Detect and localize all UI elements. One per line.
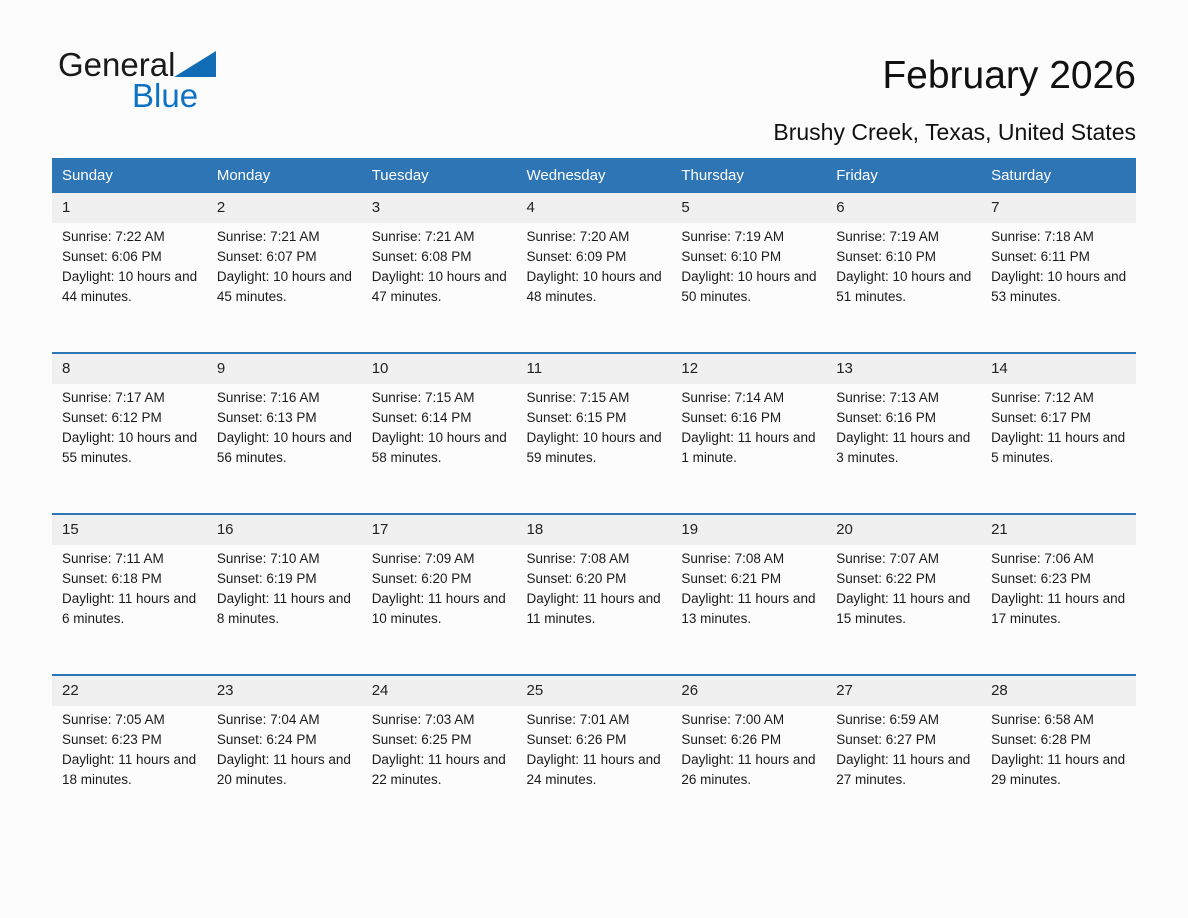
day-cell[interactable]: Sunrise: 6:59 AM Sunset: 6:27 PM Dayligh…: [826, 706, 981, 835]
sunset-text: Sunset: 6:26 PM: [681, 730, 818, 750]
daylight-text: Daylight: 11 hours and 29 minutes.: [991, 750, 1128, 790]
day-cell[interactable]: Sunrise: 7:22 AM Sunset: 6:06 PM Dayligh…: [52, 223, 207, 353]
daylight-text: Daylight: 11 hours and 5 minutes.: [991, 428, 1128, 468]
week-info-row: Sunrise: 7:05 AM Sunset: 6:23 PM Dayligh…: [52, 706, 1136, 835]
day-number: 20: [826, 514, 981, 545]
sunset-text: Sunset: 6:15 PM: [527, 408, 664, 428]
sunrise-text: Sunrise: 7:06 AM: [991, 549, 1128, 569]
daylight-text: Daylight: 11 hours and 18 minutes.: [62, 750, 199, 790]
location-subtitle: Brushy Creek, Texas, United States: [773, 117, 1136, 147]
sunrise-text: Sunrise: 7:17 AM: [62, 388, 199, 408]
day-number: 8: [52, 353, 207, 384]
general-blue-logo[interactable]: General Blue: [58, 48, 318, 118]
weekday-header-wednesday: Wednesday: [517, 158, 672, 193]
sunset-text: Sunset: 6:16 PM: [836, 408, 973, 428]
sunrise-text: Sunrise: 7:04 AM: [217, 710, 354, 730]
sunrise-text: Sunrise: 7:16 AM: [217, 388, 354, 408]
calendar-body: 1 2 3 4 5 6 7 Sunrise: 7:22 AM Sunset: 6…: [52, 193, 1136, 835]
sunset-text: Sunset: 6:07 PM: [217, 247, 354, 267]
sunrise-text: Sunrise: 7:09 AM: [372, 549, 509, 569]
day-cell[interactable]: Sunrise: 7:01 AM Sunset: 6:26 PM Dayligh…: [517, 706, 672, 835]
sunset-text: Sunset: 6:14 PM: [372, 408, 509, 428]
sunset-text: Sunset: 6:09 PM: [527, 247, 664, 267]
sunrise-text: Sunrise: 7:08 AM: [681, 549, 818, 569]
sunrise-text: Sunrise: 7:15 AM: [372, 388, 509, 408]
sunrise-text: Sunrise: 7:13 AM: [836, 388, 973, 408]
day-cell[interactable]: Sunrise: 6:58 AM Sunset: 6:28 PM Dayligh…: [981, 706, 1136, 835]
day-number: 17: [362, 514, 517, 545]
daylight-text: Daylight: 10 hours and 47 minutes.: [372, 267, 509, 307]
daylight-text: Daylight: 10 hours and 53 minutes.: [991, 267, 1128, 307]
daylight-text: Daylight: 11 hours and 3 minutes.: [836, 428, 973, 468]
week-date-row: 8 9 10 11 12 13 14: [52, 353, 1136, 384]
sunrise-text: Sunrise: 7:21 AM: [372, 227, 509, 247]
day-cell[interactable]: Sunrise: 7:05 AM Sunset: 6:23 PM Dayligh…: [52, 706, 207, 835]
sunset-text: Sunset: 6:19 PM: [217, 569, 354, 589]
sunset-text: Sunset: 6:20 PM: [527, 569, 664, 589]
calendar-table: Sunday Monday Tuesday Wednesday Thursday…: [52, 158, 1136, 835]
day-cell[interactable]: Sunrise: 7:07 AM Sunset: 6:22 PM Dayligh…: [826, 545, 981, 675]
day-cell[interactable]: Sunrise: 7:19 AM Sunset: 6:10 PM Dayligh…: [671, 223, 826, 353]
sunset-text: Sunset: 6:12 PM: [62, 408, 199, 428]
daylight-text: Daylight: 11 hours and 20 minutes.: [217, 750, 354, 790]
week-info-row: Sunrise: 7:17 AM Sunset: 6:12 PM Dayligh…: [52, 384, 1136, 514]
sunset-text: Sunset: 6:22 PM: [836, 569, 973, 589]
weekday-header-sunday: Sunday: [52, 158, 207, 193]
daylight-text: Daylight: 10 hours and 58 minutes.: [372, 428, 509, 468]
day-number: 7: [981, 193, 1136, 223]
day-cell[interactable]: Sunrise: 7:19 AM Sunset: 6:10 PM Dayligh…: [826, 223, 981, 353]
sunrise-text: Sunrise: 7:11 AM: [62, 549, 199, 569]
daylight-text: Daylight: 11 hours and 11 minutes.: [527, 589, 664, 629]
sunrise-text: Sunrise: 7:19 AM: [681, 227, 818, 247]
week-date-row: 15 16 17 18 19 20 21: [52, 514, 1136, 545]
sunrise-text: Sunrise: 7:05 AM: [62, 710, 199, 730]
sunset-text: Sunset: 6:23 PM: [991, 569, 1128, 589]
day-number: 25: [517, 675, 672, 706]
weekday-header-friday: Friday: [826, 158, 981, 193]
day-number: 4: [517, 193, 672, 223]
weekday-header-tuesday: Tuesday: [362, 158, 517, 193]
daylight-text: Daylight: 10 hours and 50 minutes.: [681, 267, 818, 307]
day-cell[interactable]: Sunrise: 7:04 AM Sunset: 6:24 PM Dayligh…: [207, 706, 362, 835]
sunset-text: Sunset: 6:08 PM: [372, 247, 509, 267]
title-block: February 2026: [882, 52, 1136, 99]
sunrise-text: Sunrise: 7:03 AM: [372, 710, 509, 730]
calendar-grid: Sunday Monday Tuesday Wednesday Thursday…: [52, 158, 1136, 835]
calendar-page: General Blue February 2026 Brushy Creek,…: [0, 0, 1188, 918]
weekday-header-monday: Monday: [207, 158, 362, 193]
day-cell[interactable]: Sunrise: 7:20 AM Sunset: 6:09 PM Dayligh…: [517, 223, 672, 353]
daylight-text: Daylight: 11 hours and 27 minutes.: [836, 750, 973, 790]
sunrise-text: Sunrise: 7:10 AM: [217, 549, 354, 569]
day-number: 14: [981, 353, 1136, 384]
sunrise-text: Sunrise: 7:12 AM: [991, 388, 1128, 408]
sunset-text: Sunset: 6:27 PM: [836, 730, 973, 750]
sunset-text: Sunset: 6:24 PM: [217, 730, 354, 750]
sunset-text: Sunset: 6:21 PM: [681, 569, 818, 589]
day-cell[interactable]: Sunrise: 7:15 AM Sunset: 6:15 PM Dayligh…: [517, 384, 672, 514]
day-number: 2: [207, 193, 362, 223]
day-number: 15: [52, 514, 207, 545]
sunrise-text: Sunrise: 6:59 AM: [836, 710, 973, 730]
day-number: 3: [362, 193, 517, 223]
day-cell[interactable]: Sunrise: 7:14 AM Sunset: 6:16 PM Dayligh…: [671, 384, 826, 514]
day-cell[interactable]: Sunrise: 7:06 AM Sunset: 6:23 PM Dayligh…: [981, 545, 1136, 675]
sunrise-text: Sunrise: 7:18 AM: [991, 227, 1128, 247]
sunrise-text: Sunrise: 7:20 AM: [527, 227, 664, 247]
daylight-text: Daylight: 10 hours and 45 minutes.: [217, 267, 354, 307]
day-cell[interactable]: Sunrise: 7:11 AM Sunset: 6:18 PM Dayligh…: [52, 545, 207, 675]
day-number: 22: [52, 675, 207, 706]
daylight-text: Daylight: 11 hours and 15 minutes.: [836, 589, 973, 629]
day-cell[interactable]: Sunrise: 7:12 AM Sunset: 6:17 PM Dayligh…: [981, 384, 1136, 514]
daylight-text: Daylight: 11 hours and 10 minutes.: [372, 589, 509, 629]
day-number: 26: [671, 675, 826, 706]
daylight-text: Daylight: 10 hours and 59 minutes.: [527, 428, 664, 468]
sunrise-text: Sunrise: 7:14 AM: [681, 388, 818, 408]
daylight-text: Daylight: 11 hours and 26 minutes.: [681, 750, 818, 790]
day-number: 24: [362, 675, 517, 706]
sunrise-text: Sunrise: 7:08 AM: [527, 549, 664, 569]
sunset-text: Sunset: 6:25 PM: [372, 730, 509, 750]
day-cell[interactable]: Sunrise: 7:03 AM Sunset: 6:25 PM Dayligh…: [362, 706, 517, 835]
sunset-text: Sunset: 6:28 PM: [991, 730, 1128, 750]
day-cell[interactable]: Sunrise: 7:15 AM Sunset: 6:14 PM Dayligh…: [362, 384, 517, 514]
day-cell[interactable]: Sunrise: 7:09 AM Sunset: 6:20 PM Dayligh…: [362, 545, 517, 675]
day-number: 9: [207, 353, 362, 384]
week-date-row: 22 23 24 25 26 27 28: [52, 675, 1136, 706]
day-number: 21: [981, 514, 1136, 545]
sunset-text: Sunset: 6:16 PM: [681, 408, 818, 428]
logo-triangle-icon: [174, 51, 216, 77]
day-number: 16: [207, 514, 362, 545]
day-number: 13: [826, 353, 981, 384]
day-cell[interactable]: Sunrise: 7:10 AM Sunset: 6:19 PM Dayligh…: [207, 545, 362, 675]
sunset-text: Sunset: 6:13 PM: [217, 408, 354, 428]
daylight-text: Daylight: 11 hours and 6 minutes.: [62, 589, 199, 629]
day-number: 18: [517, 514, 672, 545]
daylight-text: Daylight: 11 hours and 17 minutes.: [991, 589, 1128, 629]
sunset-text: Sunset: 6:11 PM: [991, 247, 1128, 267]
page-header: General Blue February 2026 Brushy Creek,…: [0, 0, 1188, 118]
sunrise-text: Sunrise: 7:00 AM: [681, 710, 818, 730]
week-date-row: 1 2 3 4 5 6 7: [52, 193, 1136, 223]
sunrise-text: Sunrise: 7:22 AM: [62, 227, 199, 247]
day-number: 10: [362, 353, 517, 384]
daylight-text: Daylight: 11 hours and 24 minutes.: [527, 750, 664, 790]
weekday-header-thursday: Thursday: [671, 158, 826, 193]
day-cell[interactable]: Sunrise: 7:08 AM Sunset: 6:20 PM Dayligh…: [517, 545, 672, 675]
day-number: 11: [517, 353, 672, 384]
daylight-text: Daylight: 10 hours and 51 minutes.: [836, 267, 973, 307]
sunset-text: Sunset: 6:23 PM: [62, 730, 199, 750]
sunset-text: Sunset: 6:17 PM: [991, 408, 1128, 428]
page-title: February 2026: [882, 52, 1136, 99]
daylight-text: Daylight: 10 hours and 44 minutes.: [62, 267, 199, 307]
sunrise-text: Sunrise: 6:58 AM: [991, 710, 1128, 730]
daylight-text: Daylight: 10 hours and 55 minutes.: [62, 428, 199, 468]
day-number: 27: [826, 675, 981, 706]
day-cell[interactable]: Sunrise: 7:18 AM Sunset: 6:11 PM Dayligh…: [981, 223, 1136, 353]
day-cell[interactable]: Sunrise: 7:21 AM Sunset: 6:07 PM Dayligh…: [207, 223, 362, 353]
logo-text-blue: Blue: [132, 79, 318, 113]
day-number: 1: [52, 193, 207, 223]
day-cell[interactable]: Sunrise: 7:08 AM Sunset: 6:21 PM Dayligh…: [671, 545, 826, 675]
day-cell[interactable]: Sunrise: 7:13 AM Sunset: 6:16 PM Dayligh…: [826, 384, 981, 514]
sunset-text: Sunset: 6:06 PM: [62, 247, 199, 267]
daylight-text: Daylight: 10 hours and 48 minutes.: [527, 267, 664, 307]
daylight-text: Daylight: 11 hours and 13 minutes.: [681, 589, 818, 629]
day-number: 6: [826, 193, 981, 223]
daylight-text: Daylight: 11 hours and 22 minutes.: [372, 750, 509, 790]
day-cell[interactable]: Sunrise: 7:21 AM Sunset: 6:08 PM Dayligh…: [362, 223, 517, 353]
sunset-text: Sunset: 6:18 PM: [62, 569, 199, 589]
sunrise-text: Sunrise: 7:07 AM: [836, 549, 973, 569]
calendar-header-row: Sunday Monday Tuesday Wednesday Thursday…: [52, 158, 1136, 193]
sunset-text: Sunset: 6:26 PM: [527, 730, 664, 750]
sunrise-text: Sunrise: 7:01 AM: [527, 710, 664, 730]
week-info-row: Sunrise: 7:11 AM Sunset: 6:18 PM Dayligh…: [52, 545, 1136, 675]
day-number: 19: [671, 514, 826, 545]
daylight-text: Daylight: 11 hours and 8 minutes.: [217, 589, 354, 629]
day-number: 12: [671, 353, 826, 384]
sunset-text: Sunset: 6:10 PM: [836, 247, 973, 267]
weekday-header-saturday: Saturday: [981, 158, 1136, 193]
daylight-text: Daylight: 10 hours and 56 minutes.: [217, 428, 354, 468]
daylight-text: Daylight: 11 hours and 1 minute.: [681, 428, 818, 468]
day-cell[interactable]: Sunrise: 7:17 AM Sunset: 6:12 PM Dayligh…: [52, 384, 207, 514]
day-cell[interactable]: Sunrise: 7:16 AM Sunset: 6:13 PM Dayligh…: [207, 384, 362, 514]
sunrise-text: Sunrise: 7:15 AM: [527, 388, 664, 408]
week-info-row: Sunrise: 7:22 AM Sunset: 6:06 PM Dayligh…: [52, 223, 1136, 353]
day-number: 23: [207, 675, 362, 706]
day-number: 28: [981, 675, 1136, 706]
day-cell[interactable]: Sunrise: 7:00 AM Sunset: 6:26 PM Dayligh…: [671, 706, 826, 835]
sunrise-text: Sunrise: 7:19 AM: [836, 227, 973, 247]
day-number: 5: [671, 193, 826, 223]
sunset-text: Sunset: 6:10 PM: [681, 247, 818, 267]
sunset-text: Sunset: 6:20 PM: [372, 569, 509, 589]
sunrise-text: Sunrise: 7:21 AM: [217, 227, 354, 247]
